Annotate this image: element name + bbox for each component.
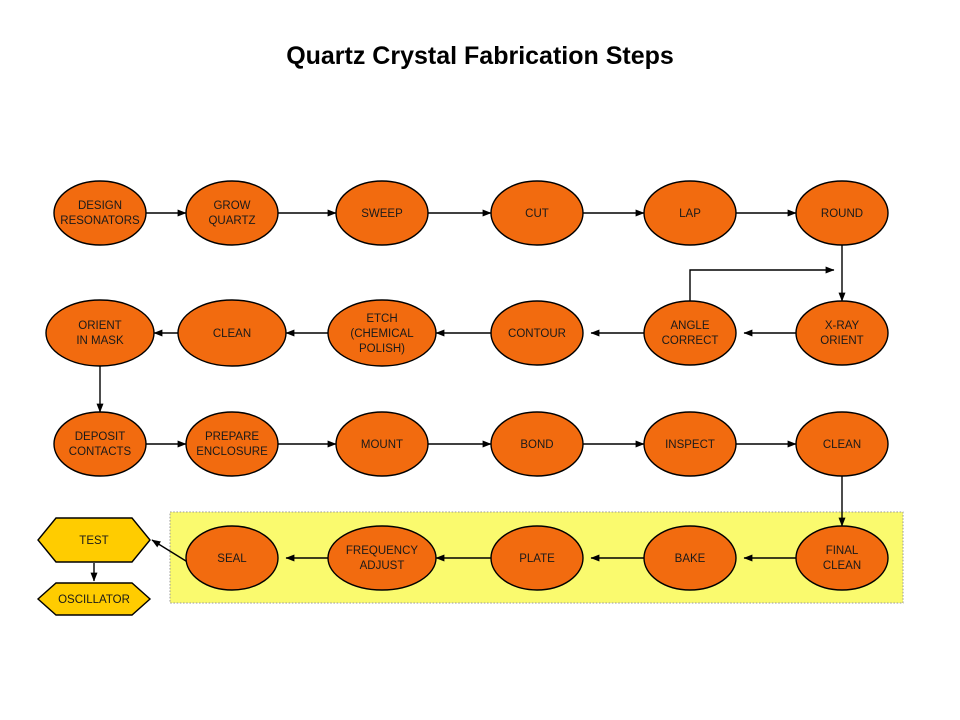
node-shape — [644, 412, 736, 476]
node-shape — [54, 181, 146, 245]
hexagon-shape — [38, 583, 150, 615]
node-shape — [644, 526, 736, 590]
node-frequency-adjust[interactable]: FREQUENCY ADJUST — [328, 526, 436, 590]
node-sweep[interactable]: SWEEP — [336, 181, 428, 245]
node-inspect[interactable]: INSPECT — [644, 412, 736, 476]
node-shape — [186, 412, 278, 476]
node-orient-in-mask[interactable]: ORIENT IN MASK — [46, 300, 154, 366]
node-shape — [46, 300, 154, 366]
node-shape — [491, 526, 583, 590]
hexagon-shape — [38, 518, 150, 562]
node-contour[interactable]: CONTOUR — [491, 301, 583, 365]
node-round[interactable]: ROUND — [796, 181, 888, 245]
node-shape — [186, 526, 278, 590]
node-shape — [796, 412, 888, 476]
node-seal[interactable]: SEAL — [186, 526, 278, 590]
node-shape — [644, 301, 736, 365]
node-angle-correct[interactable]: ANGLE CORRECT — [644, 301, 736, 365]
node-clean-2[interactable]: CLEAN — [796, 412, 888, 476]
flowchart-svg: DESIGN RESONATORS GROW QUARTZ SWEEP CUT … — [0, 0, 960, 720]
edge-angle-correct-feedback-to-xray-orient — [690, 270, 834, 301]
node-bond[interactable]: BOND — [491, 412, 583, 476]
node-shape — [796, 181, 888, 245]
node-clean-1[interactable]: CLEAN — [178, 300, 286, 366]
node-shape — [336, 412, 428, 476]
diagram-canvas: Quartz Crystal Fabrication Steps — [0, 0, 960, 720]
node-cut[interactable]: CUT — [491, 181, 583, 245]
terminal-oscillator[interactable]: OSCILLATOR — [38, 583, 150, 615]
node-grow-quartz[interactable]: GROW QUARTZ — [186, 181, 278, 245]
node-bake[interactable]: BAKE — [644, 526, 736, 590]
terminal-test[interactable]: TEST — [38, 518, 150, 562]
node-lap[interactable]: LAP — [644, 181, 736, 245]
node-shape — [491, 301, 583, 365]
node-deposit-contacts[interactable]: DEPOSIT CONTACTS — [54, 412, 146, 476]
node-shape — [54, 412, 146, 476]
node-shape — [796, 301, 888, 365]
node-design-resonators[interactable]: DESIGN RESONATORS — [54, 181, 146, 245]
node-shape — [796, 526, 888, 590]
node-shape — [328, 526, 436, 590]
node-shape — [644, 181, 736, 245]
node-etch[interactable]: ETCH (CHEMICAL POLISH) — [328, 300, 436, 366]
node-shape — [336, 181, 428, 245]
node-prepare-enclosure[interactable]: PREPARE ENCLOSURE — [186, 412, 278, 476]
node-shape — [491, 412, 583, 476]
node-shape — [178, 300, 286, 366]
node-shape — [491, 181, 583, 245]
node-shape — [186, 181, 278, 245]
node-xray-orient[interactable]: X-RAY ORIENT — [796, 301, 888, 365]
node-plate[interactable]: PLATE — [491, 526, 583, 590]
node-mount[interactable]: MOUNT — [336, 412, 428, 476]
node-final-clean[interactable]: FINAL CLEAN — [796, 526, 888, 590]
node-shape — [328, 300, 436, 366]
